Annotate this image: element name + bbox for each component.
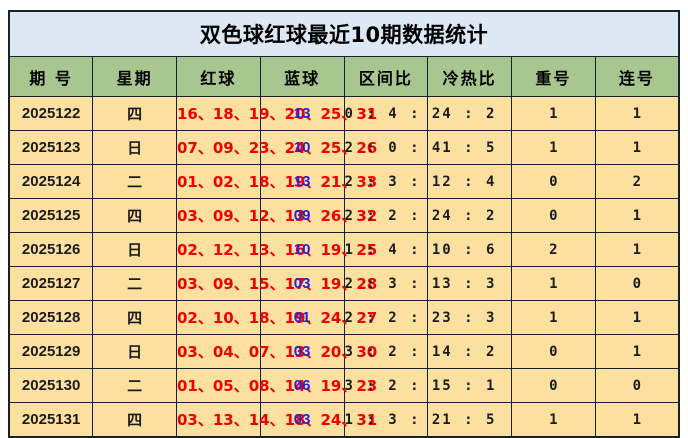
cell-issue: 2025127 — [9, 267, 93, 301]
cell-cold-hot-ratio-text: 0 : 6 — [442, 242, 497, 258]
cell-issue-text: 2025127 — [22, 275, 80, 292]
cell-red-balls: 03、04、07、13、20、30 — [177, 335, 261, 369]
cell-consecutive-count-text: 0 — [633, 378, 641, 394]
cell-weekday: 四 — [93, 97, 177, 131]
cell-repeat-count-text: 1 — [549, 140, 557, 156]
cell-repeat-count: 1 — [512, 403, 596, 438]
cell-issue: 2025122 — [9, 97, 93, 131]
column-header-weekday: 星期 — [93, 57, 177, 97]
cell-repeat-count: 2 — [512, 233, 596, 267]
cell-issue: 2025124 — [9, 165, 93, 199]
cell-blue-ball-text: 03 — [294, 411, 311, 428]
cell-repeat-count-text: 1 — [549, 276, 557, 292]
table-body: 双色球红球最近10期数据统计 期 号 星期 红球 蓝球 区间比 冷热比 重号 连… — [9, 11, 679, 437]
cell-weekday-text: 二 — [127, 174, 142, 191]
table-row: 2025131四03、13、14、18、24、31031 : 3 : 21 : … — [9, 403, 679, 438]
cell-issue-text: 2025123 — [22, 139, 80, 156]
cell-consecutive-count-text: 1 — [633, 208, 641, 224]
cell-repeat-count: 0 — [512, 335, 596, 369]
cell-cold-hot-ratio-text: 4 : 2 — [442, 344, 497, 360]
cell-zone-ratio: 1 : 3 : 2 — [344, 403, 428, 438]
cell-repeat-count-text: 1 — [549, 310, 557, 326]
cell-red-balls: 07、09、23、24、25、26 — [177, 131, 261, 165]
cell-issue-text: 2025128 — [22, 309, 80, 326]
table-row: 2025122四16、18、19、20、25、31130 : 4 : 24 : … — [9, 97, 679, 131]
cell-repeat-count-text: 2 — [549, 242, 557, 258]
cell-consecutive-count-text: 1 — [633, 412, 641, 428]
cell-zone-ratio-text: 1 : 4 : 1 — [345, 242, 443, 258]
cell-red-balls: 03、13、14、18、24、31 — [177, 403, 261, 438]
cell-consecutive-count: 1 — [595, 97, 679, 131]
column-header-red-balls: 红球 — [177, 57, 261, 97]
cell-issue: 2025129 — [9, 335, 93, 369]
cell-repeat-count-text: 0 — [549, 208, 557, 224]
cell-repeat-count: 1 — [512, 131, 596, 165]
cell-cold-hot-ratio-text: 4 : 2 — [442, 208, 497, 224]
cell-repeat-count-text: 0 — [549, 344, 557, 360]
cell-red-balls: 03、09、15、17、19、28 — [177, 267, 261, 301]
cell-repeat-count: 0 — [512, 369, 596, 403]
cell-cold-hot-ratio-text: 5 : 1 — [442, 378, 497, 394]
table-row: 2025129日03、04、07、13、20、30033 : 2 : 14 : … — [9, 335, 679, 369]
cell-blue-ball-text: 03 — [294, 343, 311, 360]
cell-zone-ratio: 2 : 0 : 4 — [344, 131, 428, 165]
cell-blue-ball-text: 03 — [294, 275, 311, 292]
cell-repeat-count-text: 0 — [549, 378, 557, 394]
cell-zone-ratio-text: 1 : 3 : 2 — [345, 412, 443, 428]
cell-cold-hot-ratio-text: 4 : 2 — [442, 106, 497, 122]
cell-weekday: 四 — [93, 199, 177, 233]
cell-red-balls: 01、05、08、14、19、23 — [177, 369, 261, 403]
cell-weekday: 二 — [93, 369, 177, 403]
cell-zone-ratio-text: 2 : 2 : 2 — [345, 208, 443, 224]
cell-issue: 2025128 — [9, 301, 93, 335]
cell-zone-ratio-text: 3 : 2 : 1 — [345, 378, 443, 394]
cell-repeat-count-text: 1 — [549, 106, 557, 122]
cell-zone-ratio: 2 : 3 : 1 — [344, 267, 428, 301]
table-header-row: 期 号 星期 红球 蓝球 区间比 冷热比 重号 连号 — [9, 57, 679, 97]
cell-weekday-text: 四 — [127, 106, 142, 123]
cell-issue-text: 2025126 — [22, 241, 80, 258]
cell-consecutive-count-text: 1 — [633, 106, 641, 122]
cell-issue: 2025130 — [9, 369, 93, 403]
cell-weekday-text: 日 — [127, 344, 142, 361]
cell-zone-ratio-text: 2 : 3 : 1 — [345, 174, 443, 190]
cell-repeat-count: 0 — [512, 199, 596, 233]
cell-weekday: 二 — [93, 267, 177, 301]
cell-weekday-text: 日 — [127, 140, 142, 157]
cell-zone-ratio-text: 3 : 2 : 1 — [345, 344, 443, 360]
cell-zone-ratio-text: 2 : 0 : 4 — [345, 140, 443, 156]
cell-blue-ball-text: 01 — [294, 309, 311, 326]
table-row: 2025126日02、12、13、16、19、25101 : 4 : 10 : … — [9, 233, 679, 267]
cell-consecutive-count-text: 1 — [633, 140, 641, 156]
cell-weekday: 四 — [93, 301, 177, 335]
cell-cold-hot-ratio-text: 1 : 5 — [442, 412, 497, 428]
cell-weekday: 日 — [93, 131, 177, 165]
cell-issue-text: 2025129 — [22, 343, 80, 360]
cell-zone-ratio: 1 : 4 : 1 — [344, 233, 428, 267]
cell-cold-hot-ratio-text: 1 : 5 — [442, 140, 497, 156]
cell-issue: 2025126 — [9, 233, 93, 267]
cell-issue: 2025131 — [9, 403, 93, 438]
cell-blue-ball-text: 10 — [294, 241, 311, 258]
cell-consecutive-count-text: 2 — [633, 174, 641, 190]
cell-weekday-text: 四 — [127, 208, 142, 225]
table-row: 2025130二01、05、08、14、19、23063 : 2 : 15 : … — [9, 369, 679, 403]
cell-issue-text: 2025131 — [22, 411, 80, 428]
cell-consecutive-count: 1 — [595, 233, 679, 267]
cell-consecutive-count: 1 — [595, 335, 679, 369]
cell-weekday: 二 — [93, 165, 177, 199]
cell-red-balls: 01、02、18、19、21、33 — [177, 165, 261, 199]
cell-weekday-text: 四 — [127, 412, 142, 429]
cell-cold-hot-ratio-text: 3 : 3 — [442, 276, 497, 292]
cell-issue-text: 2025130 — [22, 377, 80, 394]
table-row: 2025123日07、09、23、24、25、26102 : 0 : 41 : … — [9, 131, 679, 165]
cell-repeat-count-text: 0 — [549, 174, 557, 190]
table-row: 2025127二03、09、15、17、19、28032 : 3 : 13 : … — [9, 267, 679, 301]
cell-weekday-text: 二 — [127, 378, 142, 395]
cell-consecutive-count: 1 — [595, 301, 679, 335]
cell-cold-hot-ratio-text: 3 : 3 — [442, 310, 497, 326]
cell-issue-text: 2025125 — [22, 207, 80, 224]
cell-blue-ball-text: 06 — [294, 377, 311, 394]
column-header-repeat: 重号 — [512, 57, 596, 97]
cell-blue-ball-text: 09 — [294, 207, 311, 224]
cell-weekday-text: 二 — [127, 276, 142, 293]
cell-zone-ratio: 3 : 2 : 1 — [344, 335, 428, 369]
cell-issue-text: 2025124 — [22, 173, 80, 190]
table-row: 2025124二01、02、18、19、21、33132 : 3 : 12 : … — [9, 165, 679, 199]
cell-issue-text: 2025122 — [22, 105, 80, 122]
cell-weekday-text: 四 — [127, 310, 142, 327]
cell-repeat-count: 1 — [512, 301, 596, 335]
column-header-zone-ratio: 区间比 — [344, 57, 428, 97]
cell-repeat-count: 1 — [512, 267, 596, 301]
table-row: 2025125四03、09、12、13、26、32092 : 2 : 24 : … — [9, 199, 679, 233]
cell-consecutive-count: 0 — [595, 267, 679, 301]
column-header-issue: 期 号 — [9, 57, 93, 97]
cell-blue-ball-text: 10 — [294, 139, 311, 156]
cell-repeat-count: 1 — [512, 97, 596, 131]
cell-repeat-count: 0 — [512, 165, 596, 199]
cell-zone-ratio: 3 : 2 : 1 — [344, 369, 428, 403]
cell-zone-ratio-text: 2 : 2 : 2 — [345, 310, 443, 326]
cell-consecutive-count-text: 1 — [633, 344, 641, 360]
column-header-blue-ball: 蓝球 — [260, 57, 344, 97]
cell-consecutive-count: 1 — [595, 131, 679, 165]
cell-consecutive-count: 1 — [595, 199, 679, 233]
cell-blue-ball-text: 13 — [294, 173, 311, 190]
column-header-consecutive: 连号 — [595, 57, 679, 97]
cell-weekday-text: 日 — [127, 242, 142, 259]
table-title-row: 双色球红球最近10期数据统计 — [9, 11, 679, 57]
cell-weekday: 四 — [93, 403, 177, 438]
lottery-stats-table: 双色球红球最近10期数据统计 期 号 星期 红球 蓝球 区间比 冷热比 重号 连… — [8, 10, 680, 438]
cell-weekday: 日 — [93, 233, 177, 267]
column-header-cold-hot-ratio: 冷热比 — [428, 57, 512, 97]
cell-zone-ratio: 2 : 2 : 2 — [344, 301, 428, 335]
cell-repeat-count-text: 1 — [549, 412, 557, 428]
cell-consecutive-count-text: 0 — [633, 276, 641, 292]
table-title: 双色球红球最近10期数据统计 — [9, 11, 679, 57]
table-row: 2025128四02、10、18、19、24、27012 : 2 : 23 : … — [9, 301, 679, 335]
cell-consecutive-count: 2 — [595, 165, 679, 199]
cell-red-balls: 02、12、13、16、19、25 — [177, 233, 261, 267]
cell-zone-ratio: 2 : 3 : 1 — [344, 165, 428, 199]
cell-red-balls: 03、09、12、13、26、32 — [177, 199, 261, 233]
cell-red-balls: 16、18、19、20、25、31 — [177, 97, 261, 131]
cell-zone-ratio: 0 : 4 : 2 — [344, 97, 428, 131]
cell-zone-ratio: 2 : 2 : 2 — [344, 199, 428, 233]
cell-red-balls: 02、10、18、19、24、27 — [177, 301, 261, 335]
cell-weekday: 日 — [93, 335, 177, 369]
cell-consecutive-count: 1 — [595, 403, 679, 438]
cell-issue: 2025125 — [9, 199, 93, 233]
cell-issue: 2025123 — [9, 131, 93, 165]
cell-zone-ratio-text: 0 : 4 : 2 — [345, 106, 443, 122]
cell-consecutive-count-text: 1 — [633, 242, 641, 258]
cell-cold-hot-ratio-text: 2 : 4 — [442, 174, 497, 190]
cell-blue-ball-text: 13 — [294, 105, 311, 122]
stats-table-container: 双色球红球最近10期数据统计 期 号 星期 红球 蓝球 区间比 冷热比 重号 连… — [8, 10, 680, 424]
cell-zone-ratio-text: 2 : 3 : 1 — [345, 276, 443, 292]
cell-consecutive-count-text: 1 — [633, 310, 641, 326]
cell-consecutive-count: 0 — [595, 369, 679, 403]
